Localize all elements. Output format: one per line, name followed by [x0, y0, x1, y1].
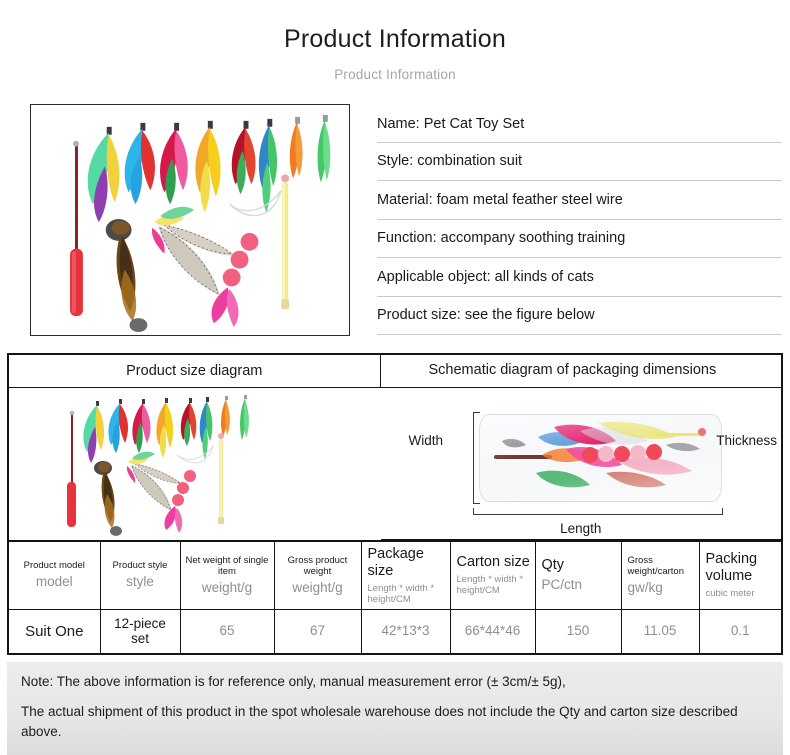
header-title: Product model [12, 560, 97, 571]
spec-table-header-row: Product model model Product style style … [8, 541, 782, 610]
cat-toy-set-illustration [31, 105, 349, 335]
cell-gross-weight-carton: 11.05 [621, 610, 699, 654]
table-row: Suit One 12-piece set 65 67 42*13*3 66*4… [8, 610, 782, 654]
header-title: Packing volume [706, 551, 779, 585]
header-subtitle: Length * width * height/CM [368, 583, 447, 605]
cell-product-style: 12-piece set [100, 610, 180, 654]
header-subtitle: weight/g [184, 580, 271, 596]
bagged-toys-illustration [480, 415, 722, 502]
note-box: Note: The above information is for refer… [7, 662, 783, 755]
note-line-1: Note: The above information is for refer… [21, 672, 769, 693]
header-subtitle: gw/kg [628, 580, 696, 596]
header-title: Gross weight/carton [628, 555, 696, 577]
packaging-bag-illustration [479, 414, 722, 502]
diagram-header-product-size: Product size diagram [8, 354, 380, 388]
spec-row-function: Function: accompany soothing training [377, 220, 782, 259]
header-title: Net weight of single item [184, 555, 271, 577]
cell-carton-size: 66*44*46 [450, 610, 535, 654]
header-title: Package size [368, 546, 447, 580]
header-title: Carton size [457, 554, 532, 571]
diagram-table: Product size diagram Schematic diagram o… [7, 353, 783, 541]
cell-packing-volume: 0.1 [699, 610, 782, 654]
header-product-style: Product style style [100, 541, 180, 610]
cat-toy-set-illustration-small [9, 388, 381, 540]
diagram-header-packaging: Schematic diagram of packaging dimension… [380, 354, 782, 388]
header-title: Qty [542, 557, 618, 574]
header-gross-weight-carton: Gross weight/carton gw/kg [621, 541, 699, 610]
header-carton-size: Carton size Length * width * height/CM [450, 541, 535, 610]
product-size-diagram-cell [8, 388, 380, 540]
cell-gross-product-weight: 67 [274, 610, 361, 654]
header-product-model: Product model model [8, 541, 100, 610]
cell-product-model: Suit One [8, 610, 100, 654]
page-header: Product Information Product Information [0, 0, 790, 82]
packaging-diagram-cell: Width Thickness Length [380, 388, 782, 540]
spec-row-name: Name: Pet Cat Toy Set [377, 106, 782, 143]
packaging-label-length: Length [560, 521, 601, 536]
length-bracket [473, 508, 723, 515]
diagram-header-row: Product size diagram Schematic diagram o… [8, 354, 782, 388]
header-packing-volume: Packing volume cubic meter [699, 541, 782, 610]
header-subtitle: model [12, 574, 97, 590]
page-subtitle: Product Information [0, 67, 790, 82]
header-subtitle: Length * width * height/CM [457, 574, 532, 596]
page-title: Product Information [0, 26, 790, 54]
header-gross-product-weight: Gross product weight weight/g [274, 541, 361, 610]
product-spec-list: Name: Pet Cat Toy Set Style: combination… [377, 104, 782, 336]
packaging-label-thickness: Thickness [716, 433, 777, 448]
packaging-diagram: Width Thickness Length [381, 388, 782, 539]
header-subtitle: weight/g [278, 580, 358, 596]
header-net-weight: Net weight of single item weight/g [180, 541, 274, 610]
note-line-2: The actual shipment of this product in t… [21, 702, 769, 744]
spec-row-material: Material: foam metal feather steel wire [377, 181, 782, 220]
packaging-label-width: Width [409, 433, 444, 448]
header-subtitle: PC/ctn [542, 577, 618, 593]
header-subtitle: style [104, 574, 177, 590]
product-photo-secondary [9, 388, 380, 539]
header-subtitle: cubic meter [706, 588, 779, 599]
specification-table: Product model model Product style style … [7, 541, 783, 655]
header-title: Gross product weight [278, 555, 358, 577]
header-qty: Qty PC/ctn [535, 541, 621, 610]
product-photo-main [30, 104, 350, 336]
header-title: Product style [104, 560, 177, 571]
spec-row-style: Style: combination suit [377, 143, 782, 182]
spec-row-applicable-object: Applicable object: all kinds of cats [377, 258, 782, 297]
diagram-body-row: Width Thickness Length [8, 388, 782, 540]
product-overview-section: Name: Pet Cat Toy Set Style: combination… [0, 104, 790, 336]
cell-net-weight: 65 [180, 610, 274, 654]
cell-package-size: 42*13*3 [361, 610, 450, 654]
cell-qty: 150 [535, 610, 621, 654]
spec-row-product-size: Product size: see the figure below [377, 297, 782, 336]
header-package-size: Package size Length * width * height/CM [361, 541, 450, 610]
